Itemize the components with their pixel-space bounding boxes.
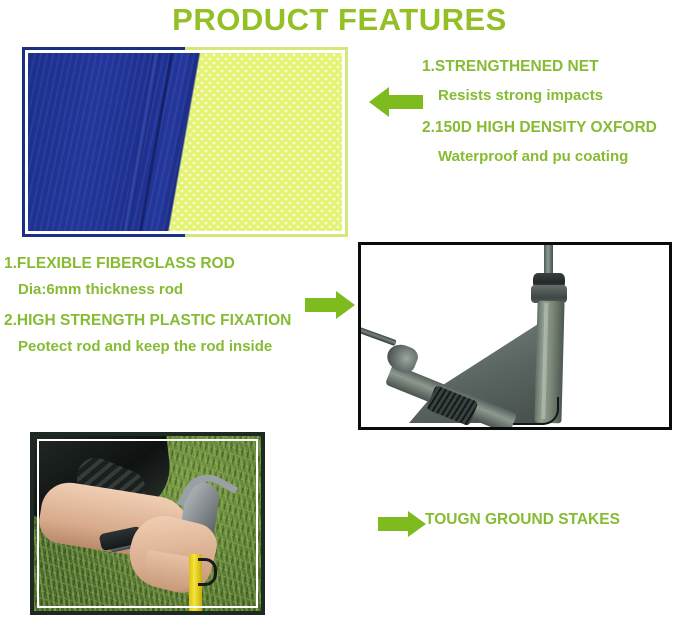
fabric-inner-border: [25, 50, 345, 234]
plastic-fixation-photo: [358, 242, 672, 430]
fixation-rod-pin: [358, 326, 397, 346]
fabric-swatch-photo: [22, 47, 348, 237]
arrow-left-icon: [369, 84, 423, 125]
arrow-right-icon: [378, 508, 426, 545]
net-feature-1-detail: Resists strong impacts: [438, 87, 679, 104]
block-spacer: [422, 104, 679, 119]
stakes-heading: TOUGN GROUND STAKES: [425, 511, 620, 529]
page-title: PRODUCT FEATURES: [0, 2, 679, 38]
arrow-right-icon: [305, 288, 355, 327]
rod-feature-1-heading: 1.FLEXIBLE FIBERGLASS ROD: [4, 255, 324, 273]
rod-feature-1-detail: Dia:6mm thickness rod: [18, 281, 324, 298]
fixation-tapered-tip: [383, 340, 421, 375]
rod-feature-2-detail: Peotect rod and keep the rod inside: [18, 338, 324, 355]
net-feature-1-heading: 1.STRENGTHENED NET: [422, 58, 679, 76]
product-features-infographic: PRODUCT FEATURES 1.STRENGTHENED NET Resi…: [0, 0, 679, 619]
net-feature-2-heading: 2.150D HIGH DENSITY OXFORD: [422, 119, 679, 137]
stakes-feature-block: TOUGN GROUND STAKES: [425, 511, 620, 529]
block-spacer: [4, 298, 324, 312]
fixation-cord: [513, 397, 559, 425]
ground-stake-photo: [30, 432, 265, 615]
rod-feature-2-heading: 2.HIGH STRENGTH PLASTIC FIXATION: [4, 312, 324, 330]
net-feature-2-detail: Waterproof and pu coating: [438, 148, 679, 165]
net-feature-block: 1.STRENGTHENED NET Resists strong impact…: [422, 58, 679, 165]
rod-feature-block: 1.FLEXIBLE FIBERGLASS ROD Dia:6mm thickn…: [4, 255, 324, 355]
